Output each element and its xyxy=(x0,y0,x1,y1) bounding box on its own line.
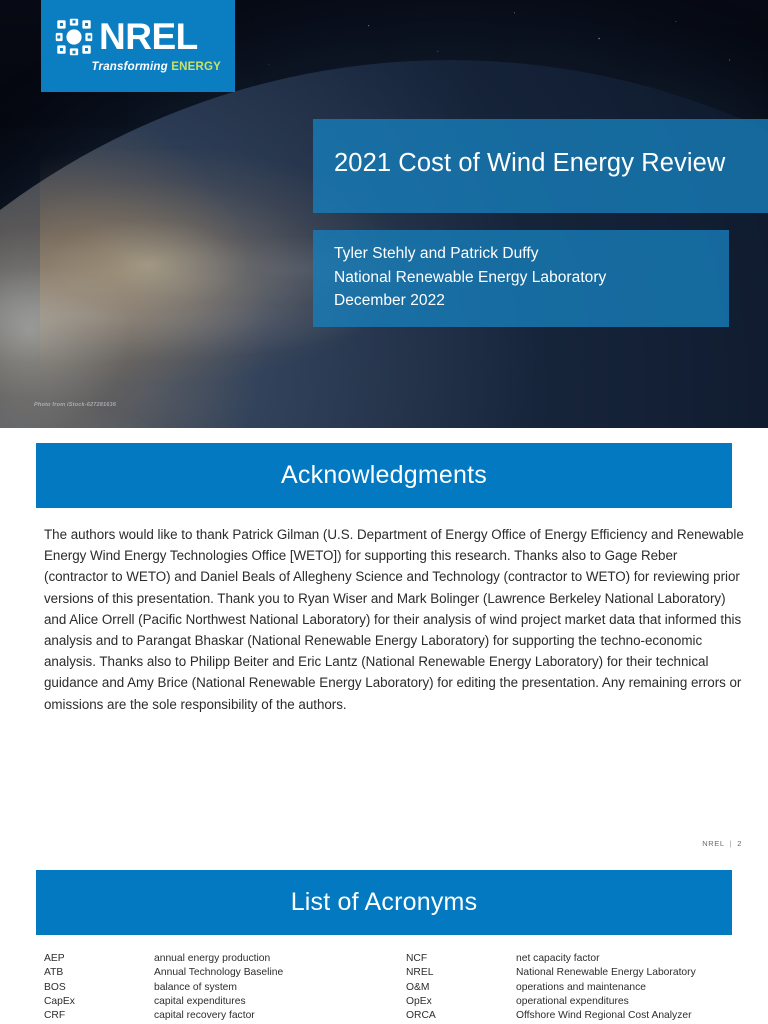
acronym-abbr: OpEx xyxy=(406,995,516,1009)
nrel-logo: NREL Transforming ENERGY xyxy=(41,0,235,92)
nrel-logo-row: NREL xyxy=(55,18,221,56)
acronym-definition: annual energy production xyxy=(154,952,406,966)
acronym-definition: balance of system xyxy=(154,981,406,995)
acronyms-table: AEPannual energy productionNCFnet capaci… xyxy=(44,952,756,1023)
acronym-abbr: ATB xyxy=(44,966,154,980)
acronyms-heading: List of Acronyms xyxy=(291,888,478,917)
document-page: NREL Transforming ENERGY 2021 Cost of Wi… xyxy=(0,0,768,1024)
title-banner: 2021 Cost of Wind Energy Review xyxy=(313,119,768,213)
acronym-definition: Offshore Wind Regional Cost Analyzer xyxy=(516,1009,756,1023)
acronym-abbr: NREL xyxy=(406,966,516,980)
author-names: Tyler Stehly and Patrick Duffy xyxy=(334,242,729,266)
acronym-abbr: BOS xyxy=(44,981,154,995)
acronym-definition: net capacity factor xyxy=(516,952,756,966)
acronym-definition: capital recovery factor xyxy=(154,1009,406,1023)
acknowledgments-header-bar: Acknowledgments xyxy=(36,443,732,508)
slide-title-page: NREL Transforming ENERGY 2021 Cost of Wi… xyxy=(0,0,768,428)
acknowledgments-heading: Acknowledgments xyxy=(281,461,487,490)
acronym-abbr: ORCA xyxy=(406,1009,516,1023)
nrel-logo-mark xyxy=(55,18,93,56)
acknowledgments-body: The authors would like to thank Patrick … xyxy=(44,524,744,715)
acronym-definition: capital expenditures xyxy=(154,995,406,1009)
acronym-abbr: O&M xyxy=(406,981,516,995)
nrel-tagline: Transforming ENERGY xyxy=(55,61,221,73)
acronym-abbr: NCF xyxy=(406,952,516,966)
acronym-definition: Annual Technology Baseline xyxy=(154,966,406,980)
footer-separator: | xyxy=(730,839,733,848)
acronym-definition: National Renewable Energy Laboratory xyxy=(516,966,756,980)
slide-list-of-acronyms: List of Acronyms AEPannual energy produc… xyxy=(0,860,768,1024)
acronyms-header-bar: List of Acronyms xyxy=(36,870,732,935)
acronym-abbr: AEP xyxy=(44,952,154,966)
footer-page-number: 2 xyxy=(737,839,742,848)
tagline-transforming: Transforming xyxy=(92,61,172,73)
acronym-definition: operations and maintenance xyxy=(516,981,756,995)
presentation-date: December 2022 xyxy=(334,289,729,313)
photo-credit: Photo from iStock-627281636 xyxy=(34,402,116,408)
acronym-definition: operational expenditures xyxy=(516,995,756,1009)
footer-label: NREL xyxy=(702,839,724,848)
slide-footer: NREL|2 xyxy=(702,839,742,848)
presentation-title: 2021 Cost of Wind Energy Review xyxy=(334,147,725,180)
slide-acknowledgments: Acknowledgments The authors would like t… xyxy=(0,428,768,860)
author-organization: National Renewable Energy Laboratory xyxy=(334,266,729,290)
author-banner: Tyler Stehly and Patrick Duffy National … xyxy=(313,230,729,327)
acronym-abbr: CRF xyxy=(44,1009,154,1023)
acronym-abbr: CapEx xyxy=(44,995,154,1009)
nrel-wordmark: NREL xyxy=(99,18,198,55)
tagline-energy: ENERGY xyxy=(171,61,221,73)
